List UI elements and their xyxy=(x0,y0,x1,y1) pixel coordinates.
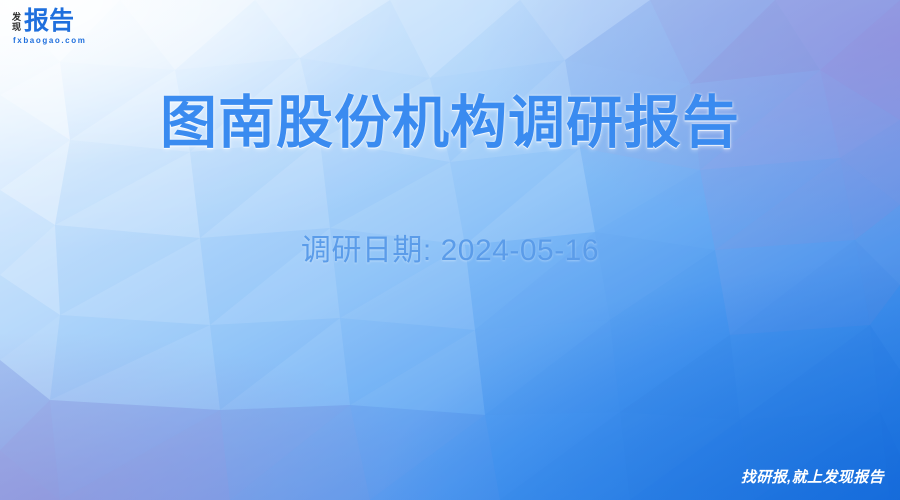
logo-stacked-characters: 发 现 xyxy=(12,12,21,34)
survey-date-subtitle: 调研日期: 2024-05-16 xyxy=(0,231,900,271)
logo-char-bottom: 现 xyxy=(12,22,21,32)
logo-wordmark: 报告 xyxy=(24,8,74,34)
logo-mark: 发 现 报告 xyxy=(12,8,74,34)
logo-char-top: 发 xyxy=(12,12,21,22)
logo-url: fxbaogao.com xyxy=(13,36,86,45)
report-cover-slide: 发 现 报告 fxbaogao.com 图南股份机构调研报告 调研日期: 202… xyxy=(0,0,900,500)
brand-logo[interactable]: 发 现 报告 xyxy=(12,8,116,52)
page-title: 图南股份机构调研报告 xyxy=(0,88,900,158)
footer-watermark: 找研报,就上发现报告 xyxy=(741,468,884,488)
